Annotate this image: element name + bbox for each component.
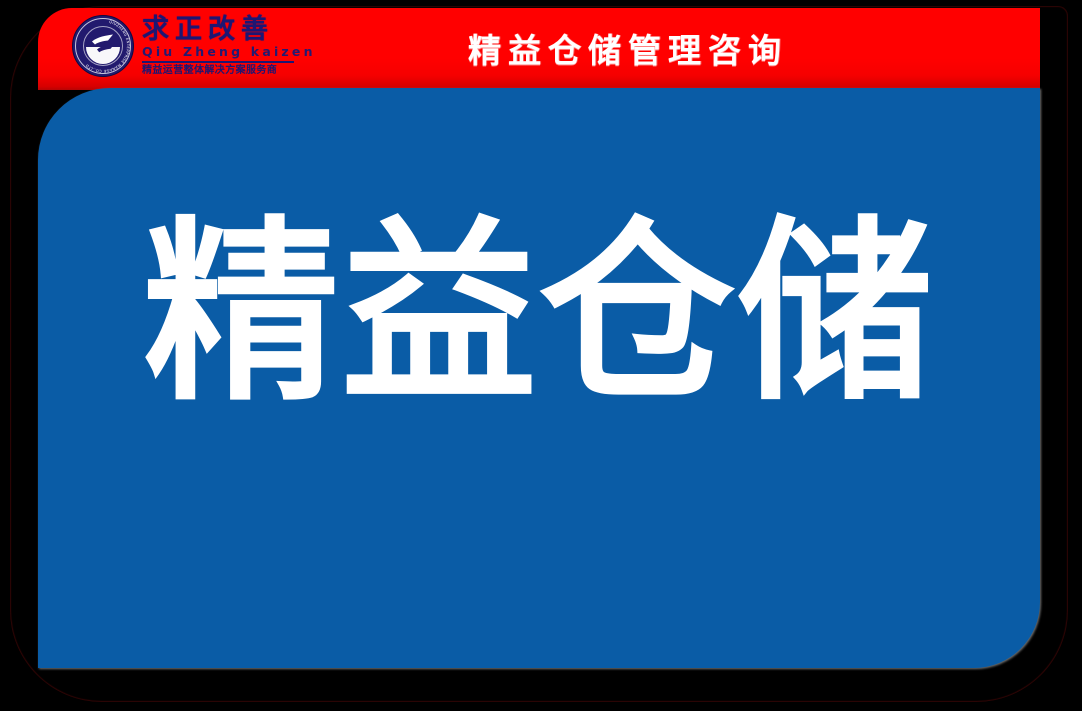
- logo-tagline: 精益运营整体解决方案服务商: [142, 65, 316, 78]
- logo-divider: [142, 61, 294, 63]
- company-emblem-icon: QIUZHENG ENTERPRISE MANAGE CO.,LTD: [72, 15, 134, 77]
- slide-main-title: 精益仓储: [38, 216, 1040, 412]
- logo-wordmark: 求正改善 Qiu Zheng kaizen 精益运营整体解决方案服务商: [142, 10, 316, 77]
- company-logo: QIUZHENG ENTERPRISE MANAGE CO.,LTD 求正改善 …: [72, 10, 316, 88]
- header-banner: QIUZHENG ENTERPRISE MANAGE CO.,LTD 求正改善 …: [38, 8, 1040, 90]
- slide-canvas: QIUZHENG ENTERPRISE MANAGE CO.,LTD 求正改善 …: [0, 0, 1082, 711]
- logo-company-name-pinyin: Qiu Zheng kaizen: [142, 44, 316, 60]
- header-title: 精益仓储管理咨询: [418, 24, 838, 72]
- logo-company-name-cn: 求正改善: [142, 16, 316, 43]
- content-panel: 精益仓储: [38, 88, 1040, 668]
- emblem-swoosh-icon: [86, 29, 120, 64]
